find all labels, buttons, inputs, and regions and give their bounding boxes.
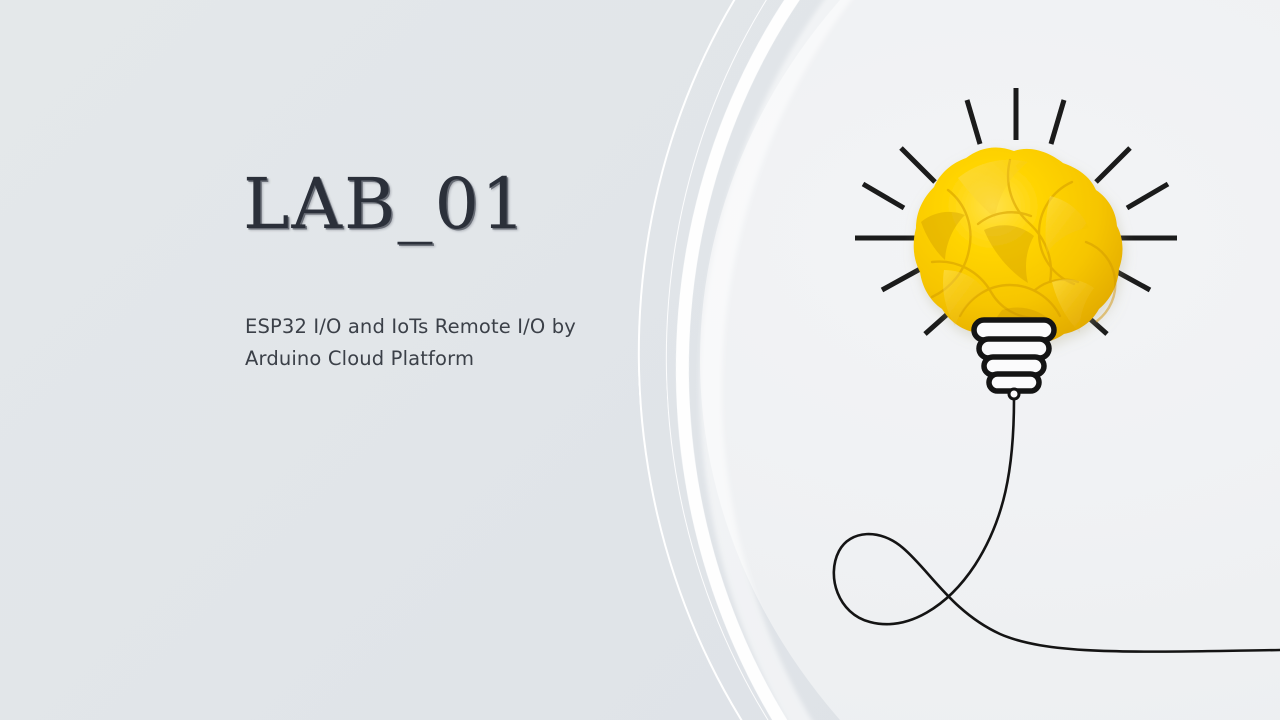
ray-icon-nnw [967,100,980,144]
ray-icon-ene [1127,184,1168,208]
ray-icon-ne [1096,148,1130,182]
bulb-cord [834,399,1280,652]
page-subtitle: ESP32 I/O and IoTs Remote I/O by Arduino… [245,311,655,374]
title-text-block: LAB_01 ESP32 I/O and IoTs Remote I/O by … [243,168,663,242]
ray-icon-nw [901,148,935,182]
ray-icon-wnw [863,184,904,208]
page-title: LAB_01 [243,168,663,242]
bulb-screw-base [974,320,1054,399]
title-slide: LAB_01 ESP32 I/O and IoTs Remote I/O by … [0,0,1280,720]
ray-icon-wsw [882,268,922,290]
ray-icon-nne [1051,100,1064,144]
base-contact-icon [1009,389,1019,399]
